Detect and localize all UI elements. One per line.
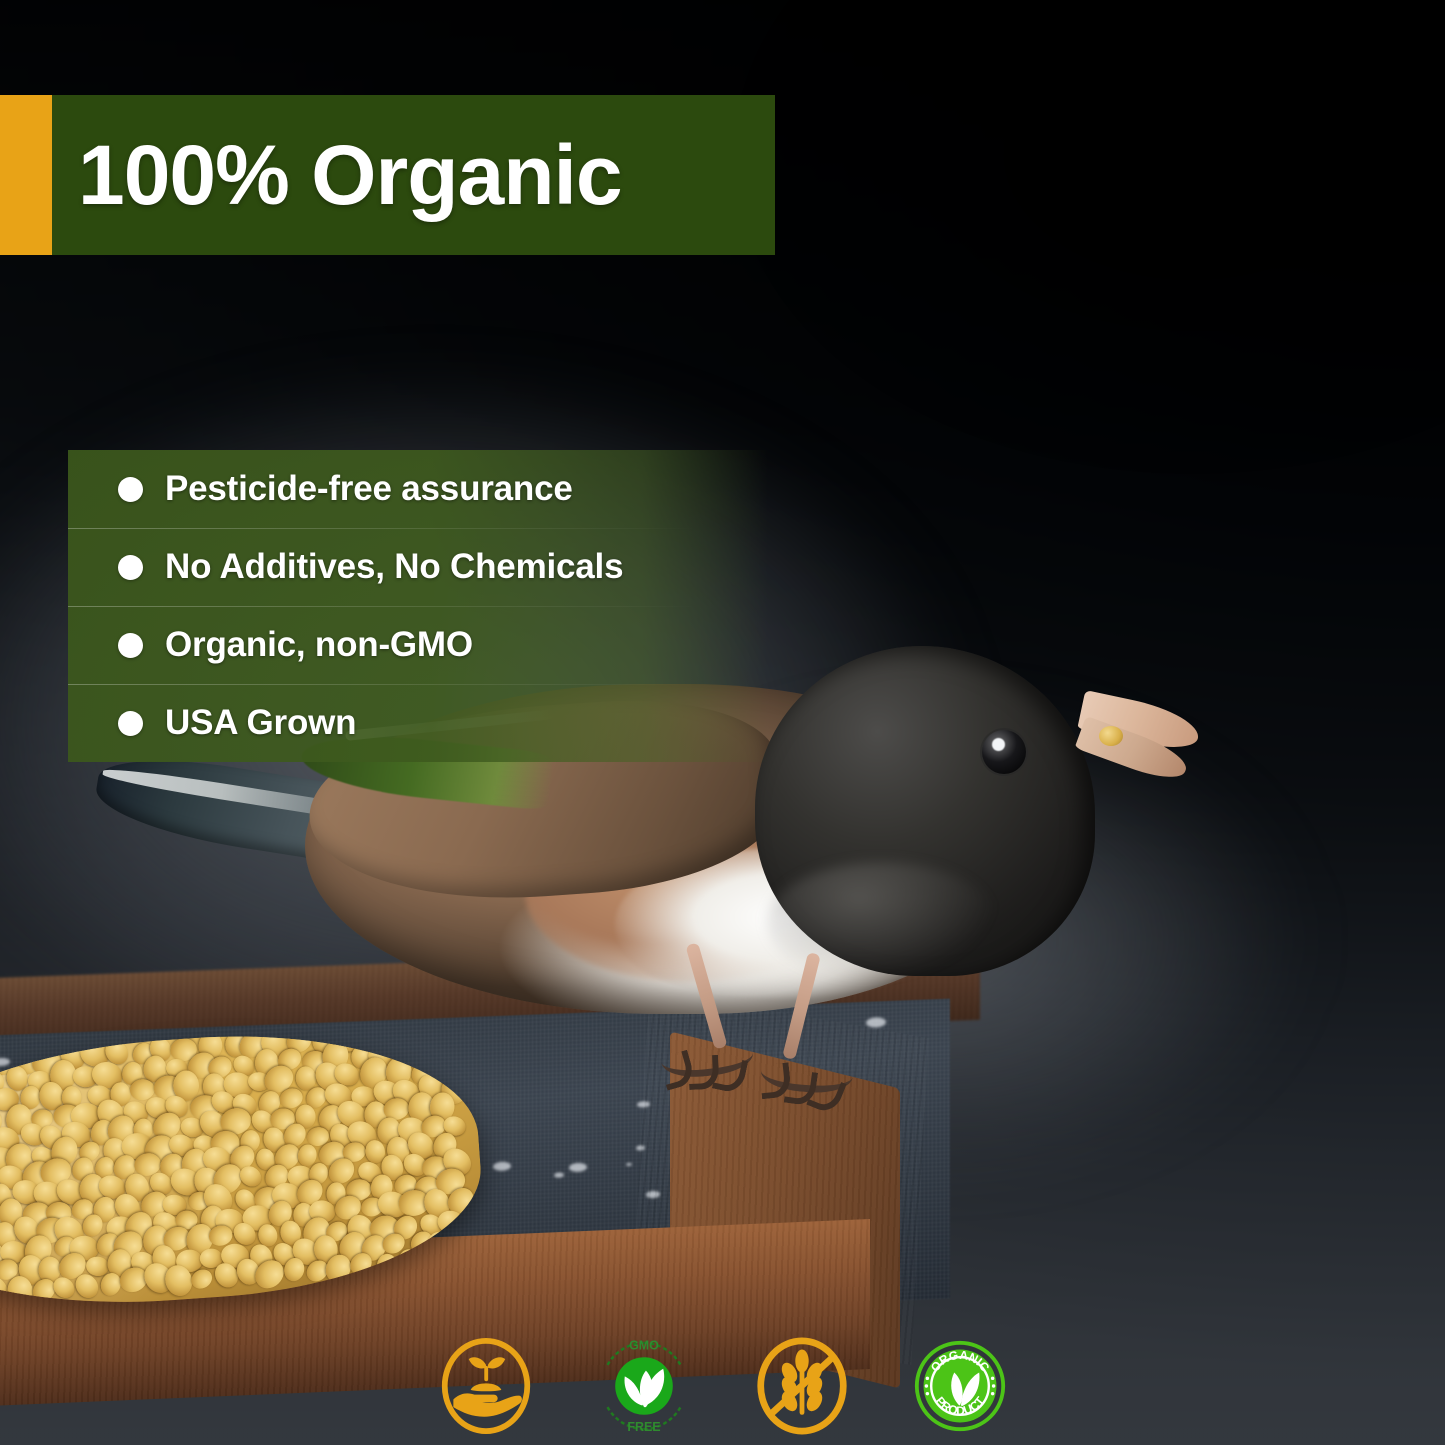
leaves-icon: GMO FREE <box>596 1336 692 1436</box>
header-accent-bar <box>0 95 52 255</box>
mesh-speck <box>493 1161 511 1171</box>
feature-label: Pesticide-free assurance <box>165 469 573 509</box>
gmo-free-badge: GMO FREE <box>596 1336 692 1436</box>
feature-label: No Additives, No Chemicals <box>165 547 623 587</box>
feature-label: Organic, non-GMO <box>165 625 473 665</box>
wheat-no-icon <box>754 1336 850 1436</box>
seed <box>377 1254 398 1278</box>
badge-bottom-text: FREE <box>627 1420 660 1434</box>
header-banner: 100% Organic <box>0 95 775 255</box>
mesh-speck <box>569 1163 587 1173</box>
feature-label: USA Grown <box>165 703 356 743</box>
page-title: 100% Organic <box>52 133 622 217</box>
feature-list-item: No Additives, No Chemicals <box>68 528 768 606</box>
bullet-dot-icon <box>118 477 143 502</box>
feature-list-item: USA Grown <box>68 684 768 762</box>
organic-product-badge: ORGANIC PRODUCT <box>912 1336 1008 1436</box>
seed-in-beak <box>1099 726 1123 746</box>
bird-eye-glint <box>992 738 1005 751</box>
product-feature-image: 100% Organic Pesticide-free assurance No… <box>0 0 1445 1445</box>
feature-list-item: Organic, non-GMO <box>68 606 768 684</box>
header-panel: 100% Organic <box>52 95 775 255</box>
bullet-dot-icon <box>118 633 143 658</box>
hand-seedling-icon <box>438 1336 534 1436</box>
mesh-speck <box>626 1163 632 1166</box>
bird-foot <box>659 1031 755 1080</box>
trust-badge-strip: GMO FREE <box>0 1327 1445 1445</box>
bullet-dot-icon <box>118 555 143 580</box>
bird-eye <box>982 730 1026 774</box>
hand-seedling-badge <box>438 1336 534 1436</box>
badge-top-text: GMO <box>629 1339 659 1353</box>
mesh-speck <box>554 1172 564 1177</box>
feature-list: Pesticide-free assurance No Additives, N… <box>68 450 768 762</box>
bird-foot <box>760 1049 855 1095</box>
gluten-free-badge <box>754 1336 850 1436</box>
bullet-dot-icon <box>118 711 143 736</box>
feature-list-item: Pesticide-free assurance <box>68 450 768 528</box>
bird-hood-edge <box>767 862 997 982</box>
two-leaves-icon: ORGANIC PRODUCT <box>912 1336 1008 1436</box>
